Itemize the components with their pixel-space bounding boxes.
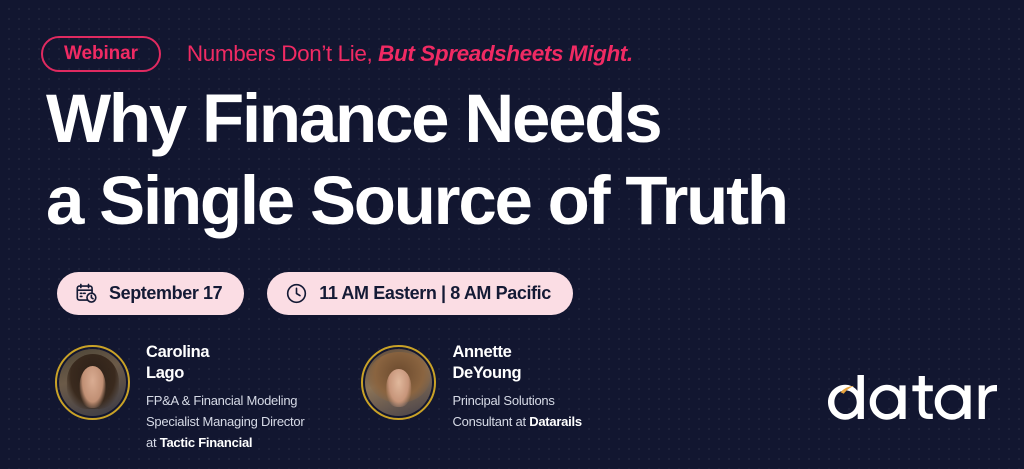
speaker-role-line1: Principal Solutions [452, 393, 554, 408]
tagline-regular: Numbers Don’t Lie, [187, 41, 378, 66]
time-pill: 11 AM Eastern | 8 AM Pacific [267, 272, 573, 315]
speaker-name: Carolina Lago [146, 342, 304, 384]
speaker-company: Tactic Financial [160, 435, 253, 450]
datarails-logo [826, 371, 1001, 425]
avatar [361, 345, 436, 420]
date-pill: September 17 [57, 272, 244, 315]
speaker-role-prefix: Consultant at [452, 414, 529, 429]
clock-icon [285, 282, 308, 305]
tagline: Numbers Don’t Lie, But Spreadsheets Migh… [187, 43, 633, 66]
date-label: September 17 [109, 283, 222, 304]
carolina-lago-photo [59, 349, 126, 416]
banner-header: Webinar Numbers Don’t Lie, But Spreadshe… [41, 36, 633, 72]
webinar-badge: Webinar [41, 36, 161, 72]
event-details: September 17 11 AM Eastern | 8 AM Pacifi… [57, 272, 573, 315]
speaker-role: FP&A & Financial ModelingSpecialist Mana… [146, 390, 304, 453]
speaker-annette-deyoung: Annette DeYoung Principal SolutionsConsu… [361, 340, 581, 453]
speaker-role-prefix: at [146, 435, 160, 450]
speaker-name: Annette DeYoung [452, 342, 581, 384]
tagline-emphasis: But Spreadsheets Might. [378, 41, 633, 66]
time-label: 11 AM Eastern | 8 AM Pacific [319, 283, 551, 304]
speaker-company: Datarails [529, 414, 582, 429]
calendar-clock-icon [75, 282, 98, 305]
speaker-role: Principal SolutionsConsultant at Datarai… [452, 390, 581, 432]
page-title: Why Finance Needs a Single Source of Tru… [46, 78, 787, 242]
speaker-role-line2: Specialist Managing Director [146, 414, 304, 429]
speaker-carolina-lago: Carolina Lago FP&A & Financial ModelingS… [55, 340, 304, 453]
webinar-banner: Webinar Numbers Don’t Lie, But Spreadshe… [0, 0, 1024, 469]
speakers-list: Carolina Lago FP&A & Financial ModelingS… [55, 340, 582, 453]
avatar [55, 345, 130, 420]
annette-deyoung-photo [365, 349, 432, 416]
datarails-logomark [826, 371, 1001, 425]
speaker-role-line1: FP&A & Financial Modeling [146, 393, 297, 408]
